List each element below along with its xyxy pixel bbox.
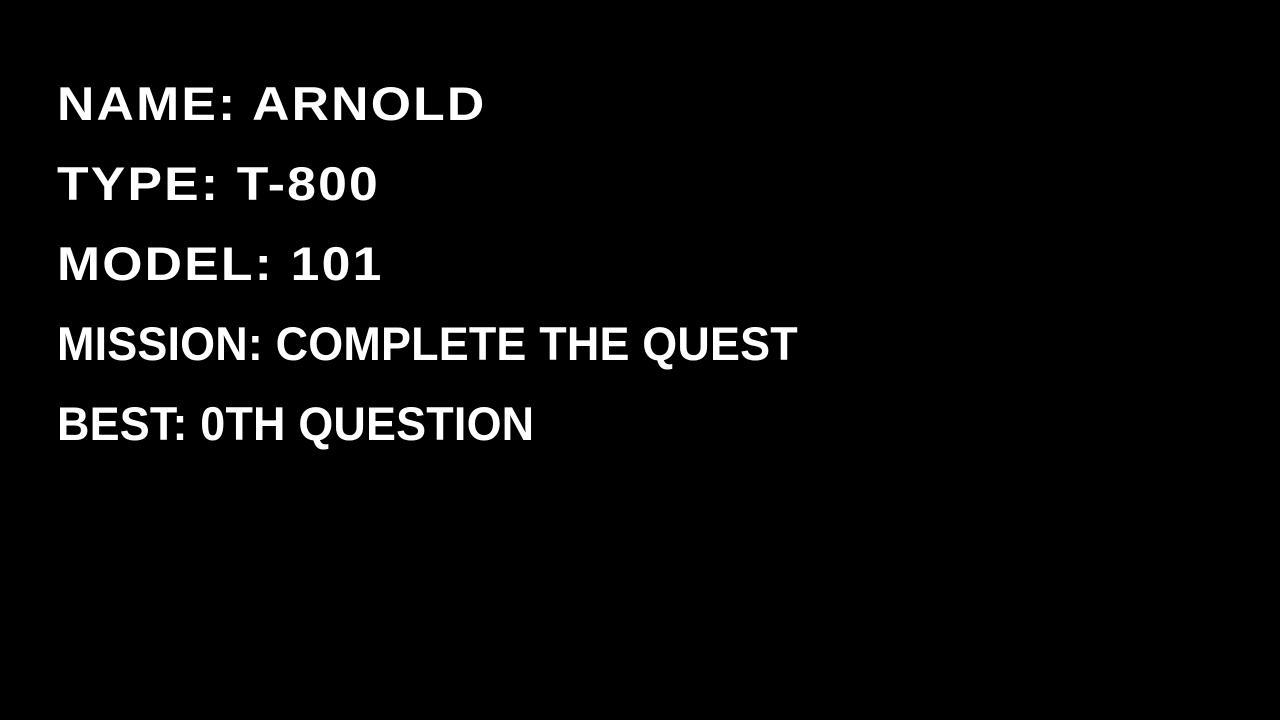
stats-screen: NAME: ARNOLD TYPE: T-800 MODEL: 101 MISS… <box>0 0 1280 720</box>
stat-row-model: MODEL: 101 <box>57 240 384 287</box>
stat-row-best: BEST: 0TH QUESTION <box>57 400 534 447</box>
stat-row-name: NAME: ARNOLD <box>57 80 486 127</box>
stats-list: NAME: ARNOLD TYPE: T-800 MODEL: 101 MISS… <box>0 0 1280 720</box>
stat-row-mission: MISSION: COMPLETE THE QUEST <box>57 320 798 367</box>
stat-row-type: TYPE: T-800 <box>57 160 380 207</box>
